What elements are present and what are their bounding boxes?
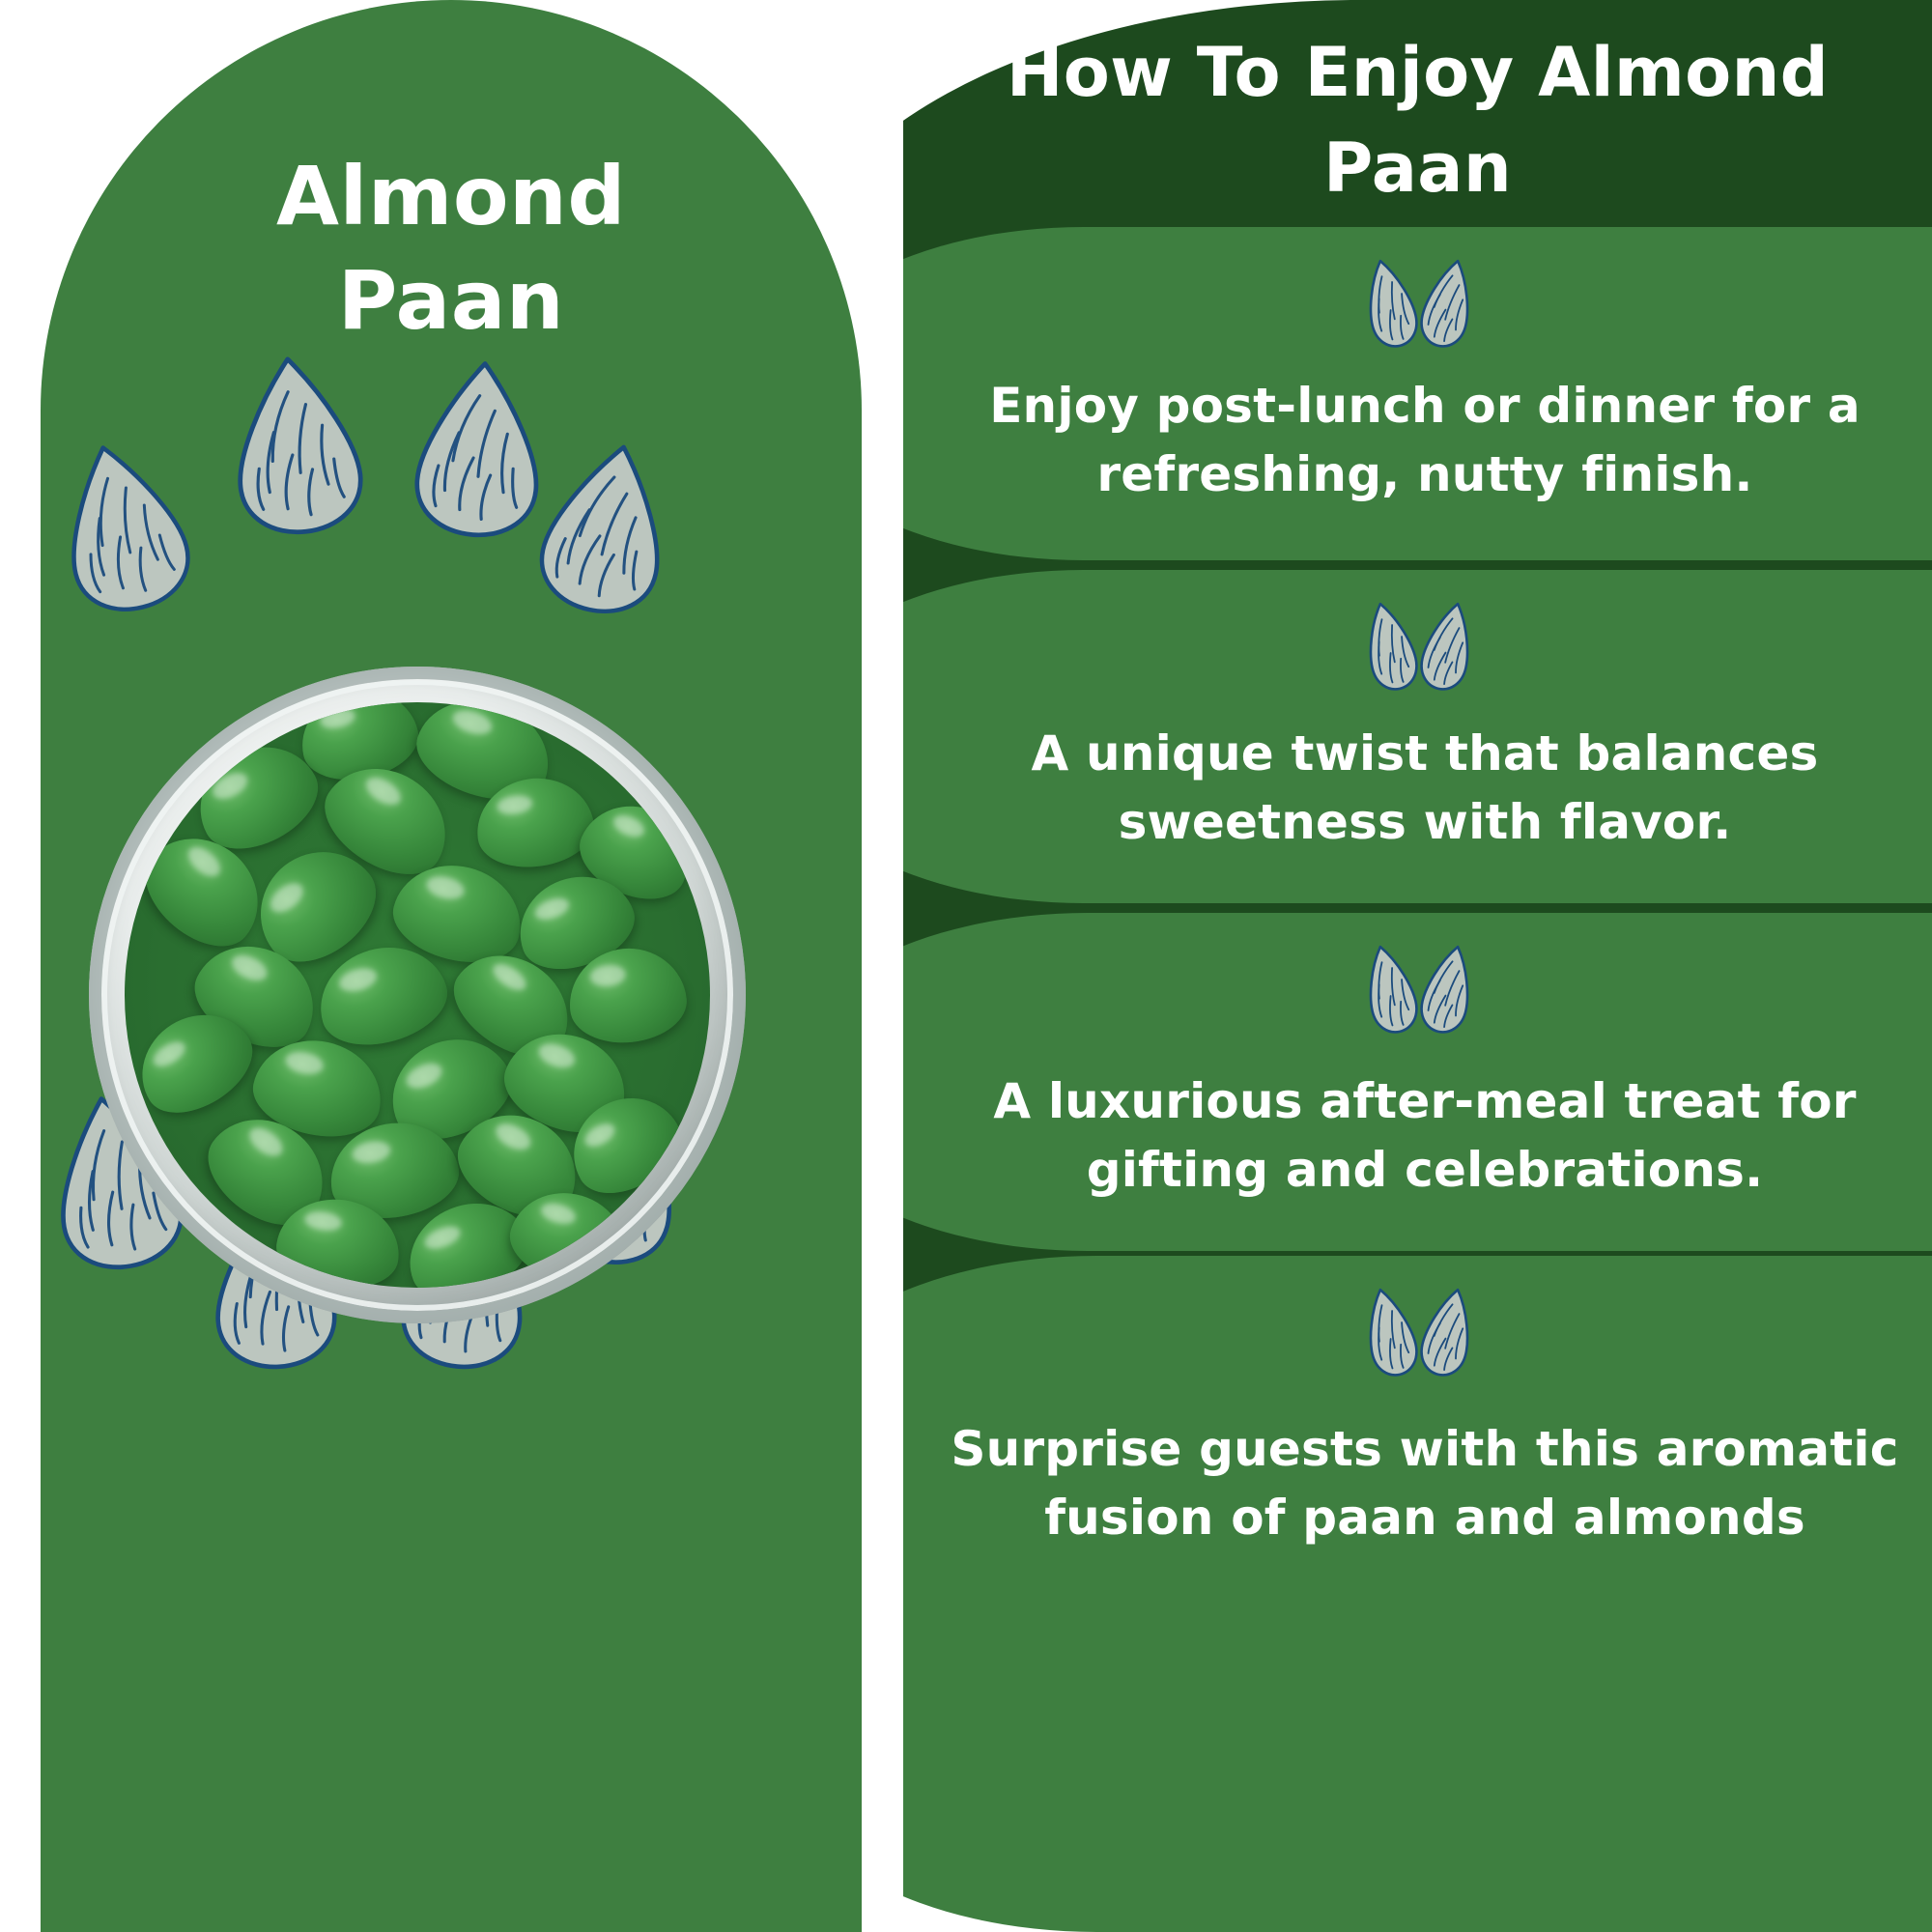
- almond-outline-icon: [41, 427, 205, 626]
- almond-pair-icon: [903, 1285, 1932, 1379]
- tip-card-1[interactable]: Enjoy post-lunch or dinner for a refresh…: [903, 227, 1932, 560]
- section-heading-line2: Paan: [921, 121, 1915, 216]
- almonds-in-bowl: [125, 702, 709, 1287]
- product-title-line1: Almond: [41, 145, 862, 249]
- product-photo: [89, 667, 746, 1323]
- product-title-line2: Paan: [41, 249, 862, 354]
- almond-outline-icon: [526, 428, 688, 626]
- right-tips-panel: How To Enjoy Almond Paan: [903, 0, 1932, 1932]
- tip-card-4[interactable]: Surprise guests with this aromatic fusio…: [903, 1256, 1932, 1932]
- almond-pair-icon: [903, 256, 1932, 351]
- tip-card-2[interactable]: A unique twist that balances sweetness w…: [903, 570, 1932, 903]
- tip-card-4-text: Surprise guests with this aromatic fusio…: [903, 1415, 1932, 1552]
- tip-card-2-text: A unique twist that balances sweetness w…: [903, 720, 1932, 857]
- almond-pair-icon: [903, 942, 1932, 1037]
- left-product-panel: Almond Paan: [41, 0, 862, 1932]
- almond-outline-icon: [407, 353, 553, 543]
- tip-card-3[interactable]: A luxurious after-meal treat for gifting…: [903, 913, 1932, 1251]
- tip-card-3-text: A luxurious after-meal treat for gifting…: [903, 1067, 1932, 1205]
- infographic-canvas: Almond Paan: [0, 0, 1932, 1932]
- section-heading-line1: How To Enjoy Almond: [921, 25, 1915, 121]
- section-heading: How To Enjoy Almond Paan: [903, 25, 1932, 217]
- product-title: Almond Paan: [41, 145, 862, 353]
- almond-outline-icon: [219, 346, 373, 543]
- almond-pair-icon: [903, 599, 1932, 694]
- tip-card-1-text: Enjoy post-lunch or dinner for a refresh…: [903, 372, 1932, 509]
